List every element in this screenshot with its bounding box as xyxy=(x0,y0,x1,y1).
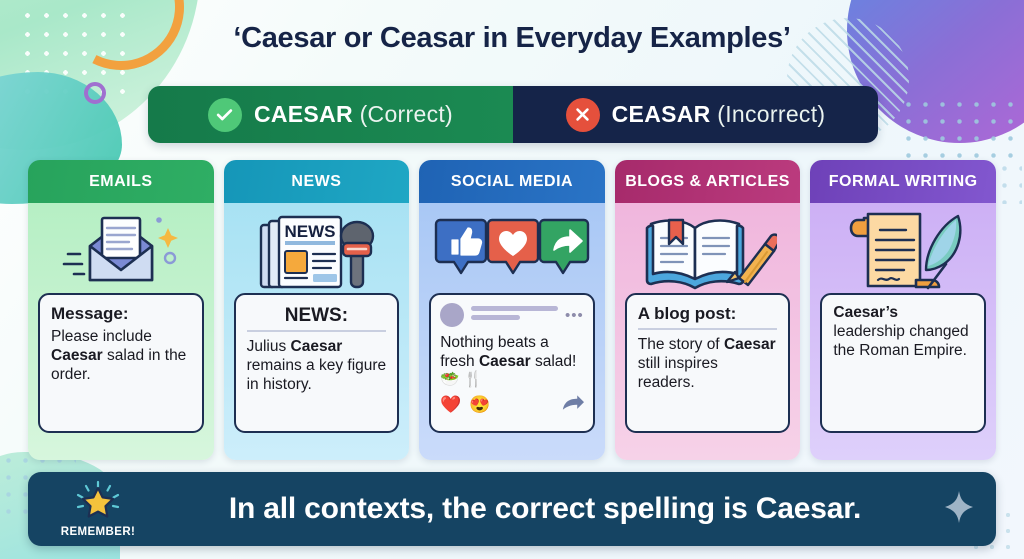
card-emails-note-title: Message: xyxy=(51,304,191,325)
correct-spelling-block: CAESAR (Correct) xyxy=(148,86,513,143)
incorrect-word-note: (Incorrect) xyxy=(717,101,825,127)
remember-banner: REMEMBER! In all contexts, the correct s… xyxy=(28,472,996,546)
card-emails: EMAILS xyxy=(28,160,214,460)
placeholder-line xyxy=(471,306,558,311)
card-news-header: NEWS xyxy=(224,160,410,203)
envelope-icon xyxy=(38,207,204,293)
newspaper-microphone-icon: NEWS xyxy=(234,207,400,293)
remember-banner-text: In all contexts, the correct spelling is… xyxy=(160,492,930,526)
card-blogs-articles-note: A blog post: The story of Caesar still i… xyxy=(625,293,791,433)
card-news-note-body: Julius Caesar remains a key figure in hi… xyxy=(247,338,387,393)
cross-icon xyxy=(566,98,600,132)
svg-text:NEWS: NEWS xyxy=(285,222,336,241)
card-formal-writing: FORMAL WRITING xyxy=(810,160,996,460)
card-social-media-header: SOCIAL MEDIA xyxy=(419,160,605,203)
card-social-media: SOCIAL MEDIA xyxy=(419,160,605,460)
incorrect-spelling-block: CEASAR (Incorrect) xyxy=(513,86,878,143)
sparkle-icon xyxy=(944,490,974,529)
scroll-quill-icon xyxy=(820,207,986,293)
correct-word-note: (Correct) xyxy=(360,101,453,127)
open-book-pencil-icon xyxy=(625,207,791,293)
correct-word: CAESAR (Correct) xyxy=(254,101,453,128)
share-arrow-icon[interactable] xyxy=(562,395,584,416)
post-header: ••• xyxy=(440,303,584,327)
card-news-note-title: NEWS: xyxy=(247,304,387,327)
card-formal-writing-note: Caesar’s leadership changed the Roman Em… xyxy=(820,293,986,433)
ellipsis-icon[interactable]: ••• xyxy=(565,308,584,323)
star-icon xyxy=(74,480,122,525)
card-blogs-articles-note-title: A blog post: xyxy=(638,304,778,325)
card-blogs-articles-note-body: The story of Caesar still inspires reade… xyxy=(638,336,776,391)
card-social-media-note-body: Nothing beats a fresh Caesar salad! 🥗 🍴 xyxy=(440,334,584,390)
card-blogs-articles-header: BLOGS & ARTICLES xyxy=(615,160,801,203)
heart-eyes-reaction-icon[interactable]: 😍 xyxy=(469,395,490,415)
spelling-comparison-banner: CAESAR (Correct) CEASAR (Incorrect) xyxy=(148,86,878,143)
post-actions: ❤️ 😍 xyxy=(440,395,584,416)
heart-reaction-icon[interactable]: ❤️ xyxy=(440,395,461,415)
example-cards: EMAILS xyxy=(28,160,996,460)
card-formal-writing-note-body: Caesar’s leadership changed the Roman Em… xyxy=(833,304,968,359)
card-emails-note: Message: Please include Caesar salad in … xyxy=(38,293,204,433)
remember-block: REMEMBER! xyxy=(50,480,146,538)
card-news-divider xyxy=(247,330,387,332)
avatar xyxy=(440,303,464,327)
card-social-media-post: ••• Nothing beats a fresh Caesar salad! … xyxy=(429,293,595,433)
card-formal-writing-header: FORMAL WRITING xyxy=(810,160,996,203)
reaction-bubbles-icon xyxy=(429,207,595,293)
decorative-dot-grid-top-right xyxy=(900,96,1018,166)
infographic-canvas: ‘Caesar or Ceasar in Everyday Examples’ … xyxy=(0,0,1024,559)
card-blogs-articles-divider xyxy=(638,328,778,330)
card-news-note: NEWS: Julius Caesar remains a key figure… xyxy=(234,293,400,433)
page-title: ‘Caesar or Ceasar in Everyday Examples’ xyxy=(0,22,1024,55)
incorrect-word: CEASAR (Incorrect) xyxy=(612,101,826,128)
card-blogs-articles: BLOGS & ARTICLES xyxy=(615,160,801,460)
card-news: NEWS NEWS xyxy=(224,160,410,460)
decorative-dot-grid-top-left xyxy=(18,6,130,104)
post-author-placeholder xyxy=(471,306,558,324)
check-icon xyxy=(208,98,242,132)
decorative-purple-ring xyxy=(84,82,106,104)
incorrect-word-text: CEASAR xyxy=(612,101,711,127)
placeholder-line xyxy=(471,315,520,320)
card-emails-header: EMAILS xyxy=(28,160,214,203)
card-emails-note-body: Please include Caesar salad in the order… xyxy=(51,328,186,383)
remember-label: REMEMBER! xyxy=(61,526,136,538)
correct-word-text: CAESAR xyxy=(254,101,353,127)
